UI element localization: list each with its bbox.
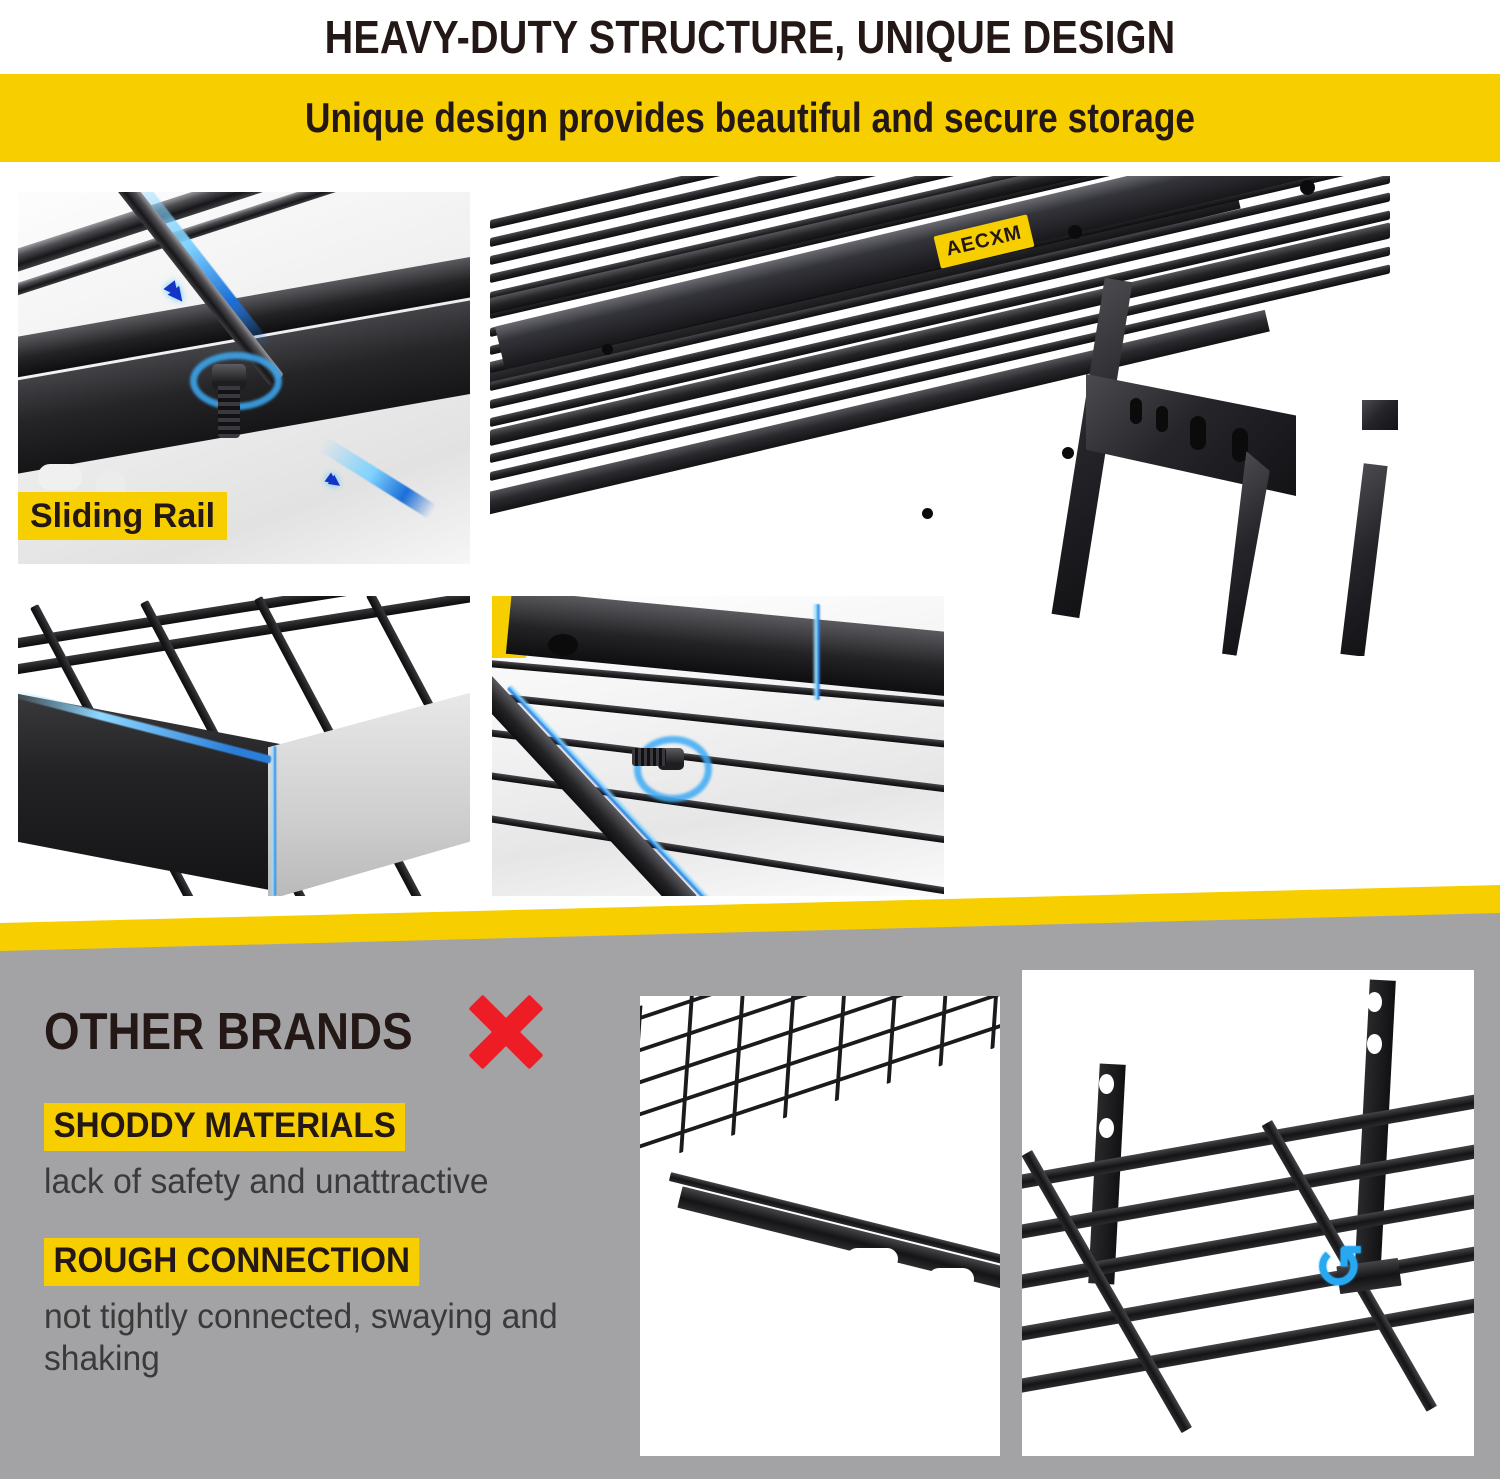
bracket-hole bbox=[1367, 1034, 1382, 1054]
corner-vertical-glow bbox=[270, 746, 277, 896]
frame-illustration: ↺ bbox=[1022, 970, 1474, 1456]
bracket-leg bbox=[1218, 451, 1272, 656]
product-infographic: HEAVY-DUTY STRUCTURE, UNIQUE DESIGN Uniq… bbox=[0, 0, 1500, 1479]
comparison-bullet: SHODDY MATERIALS lack of safety and unat… bbox=[44, 1103, 604, 1204]
sliding-rail-photo: ▸▸ ▸▸ Sliding Rail bbox=[18, 192, 470, 564]
bullet-heading: SHODDY MATERIALS bbox=[44, 1103, 405, 1151]
bracket-slot bbox=[1130, 398, 1142, 424]
subtitle-text: Unique design provides beautiful and sec… bbox=[120, 74, 1380, 162]
bracket-slot bbox=[1156, 406, 1168, 432]
bullet-heading: ROUGH CONNECTION bbox=[44, 1238, 420, 1286]
bracket-leg-right bbox=[1340, 463, 1387, 656]
corner-edge-photo bbox=[18, 596, 470, 896]
comparison-bullet: ROUGH CONNECTION not tightly connected, … bbox=[44, 1238, 604, 1381]
bracket-flange bbox=[1362, 400, 1398, 430]
x-mark-icon bbox=[469, 995, 543, 1069]
hero-shelf-photo: AECXM bbox=[490, 176, 1490, 656]
loose-frame-photo: ↺ bbox=[1022, 970, 1474, 1456]
bullet-body: not tightly connected, swaying and shaki… bbox=[44, 1296, 582, 1381]
mesh-illustration bbox=[640, 996, 1000, 1456]
underside-illustration bbox=[492, 596, 944, 896]
mount-hole bbox=[922, 508, 933, 519]
thin-wire-mesh-photo bbox=[640, 996, 1000, 1456]
bolt-shaft bbox=[218, 386, 240, 438]
page-title: HEAVY-DUTY STRUCTURE, UNIQUE DESIGN bbox=[105, 0, 1395, 74]
bullet-body: lack of safety and unattractive bbox=[44, 1161, 582, 1204]
bolt-connection-photo bbox=[492, 596, 944, 896]
comparison-content: OTHER BRANDS SHODDY MATERIALS lack of sa… bbox=[0, 940, 1500, 1479]
direction-chevrons: ▸▸ bbox=[158, 274, 191, 304]
shelf-illustration: AECXM bbox=[490, 176, 1490, 656]
mount-hole bbox=[1062, 447, 1074, 459]
bracket-slot bbox=[1232, 428, 1248, 462]
bracket-hole bbox=[1367, 992, 1382, 1012]
mount-hole bbox=[602, 344, 613, 355]
punch-hole bbox=[38, 464, 82, 490]
bolt-shaft bbox=[632, 748, 666, 766]
frame-slot bbox=[928, 1268, 974, 1290]
sliding-rail-label: Sliding Rail bbox=[30, 497, 215, 536]
other-brands-row: OTHER BRANDS bbox=[44, 995, 604, 1069]
vertical-spark bbox=[812, 604, 821, 700]
corner-side-face bbox=[268, 688, 470, 896]
sliding-rail-tag: Sliding Rail bbox=[18, 492, 227, 540]
other-brands-title: OTHER BRANDS bbox=[44, 1002, 413, 1062]
mount-hole bbox=[1300, 180, 1315, 195]
loose-connection-marker: ↺ bbox=[1314, 1238, 1364, 1298]
corner-front-face bbox=[18, 692, 280, 892]
beam-hole bbox=[548, 634, 578, 656]
frame-slot bbox=[846, 1248, 898, 1270]
bracket-hole bbox=[1099, 1074, 1114, 1094]
bracket-slot bbox=[1190, 416, 1206, 450]
corner-illustration bbox=[18, 596, 470, 896]
direction-chevrons: ▸▸ bbox=[321, 466, 342, 491]
bracket-hole bbox=[1099, 1118, 1114, 1138]
feature-photo-grid: AECXM bbox=[0, 168, 1500, 928]
mount-hole bbox=[1068, 225, 1082, 239]
comparison-text-block: OTHER BRANDS SHODDY MATERIALS lack of sa… bbox=[44, 995, 604, 1381]
